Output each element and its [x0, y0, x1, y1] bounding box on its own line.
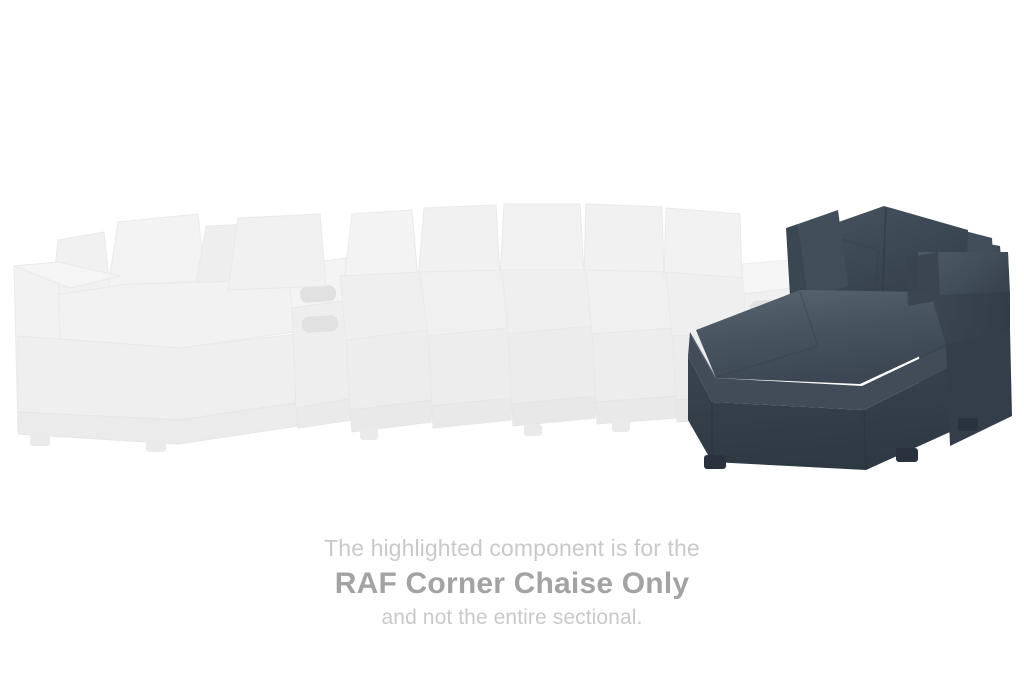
caption-line-intro: The highlighted component is for the [0, 533, 1024, 563]
armless-chair-2 [418, 205, 512, 428]
product-highlight-page: The highlighted component is for the RAF… [0, 0, 1024, 683]
corner-wedge [500, 204, 596, 436]
caption-line-disclaimer: and not the entire sectional. [0, 604, 1024, 632]
caption-line-component-name: RAF Corner Chaise Only [0, 563, 1024, 604]
sectional-illustration [0, 0, 1024, 500]
faded-sectional-group [14, 204, 796, 452]
armless-chair-3 [584, 204, 676, 432]
caption-block: The highlighted component is for the RAF… [0, 533, 1024, 632]
